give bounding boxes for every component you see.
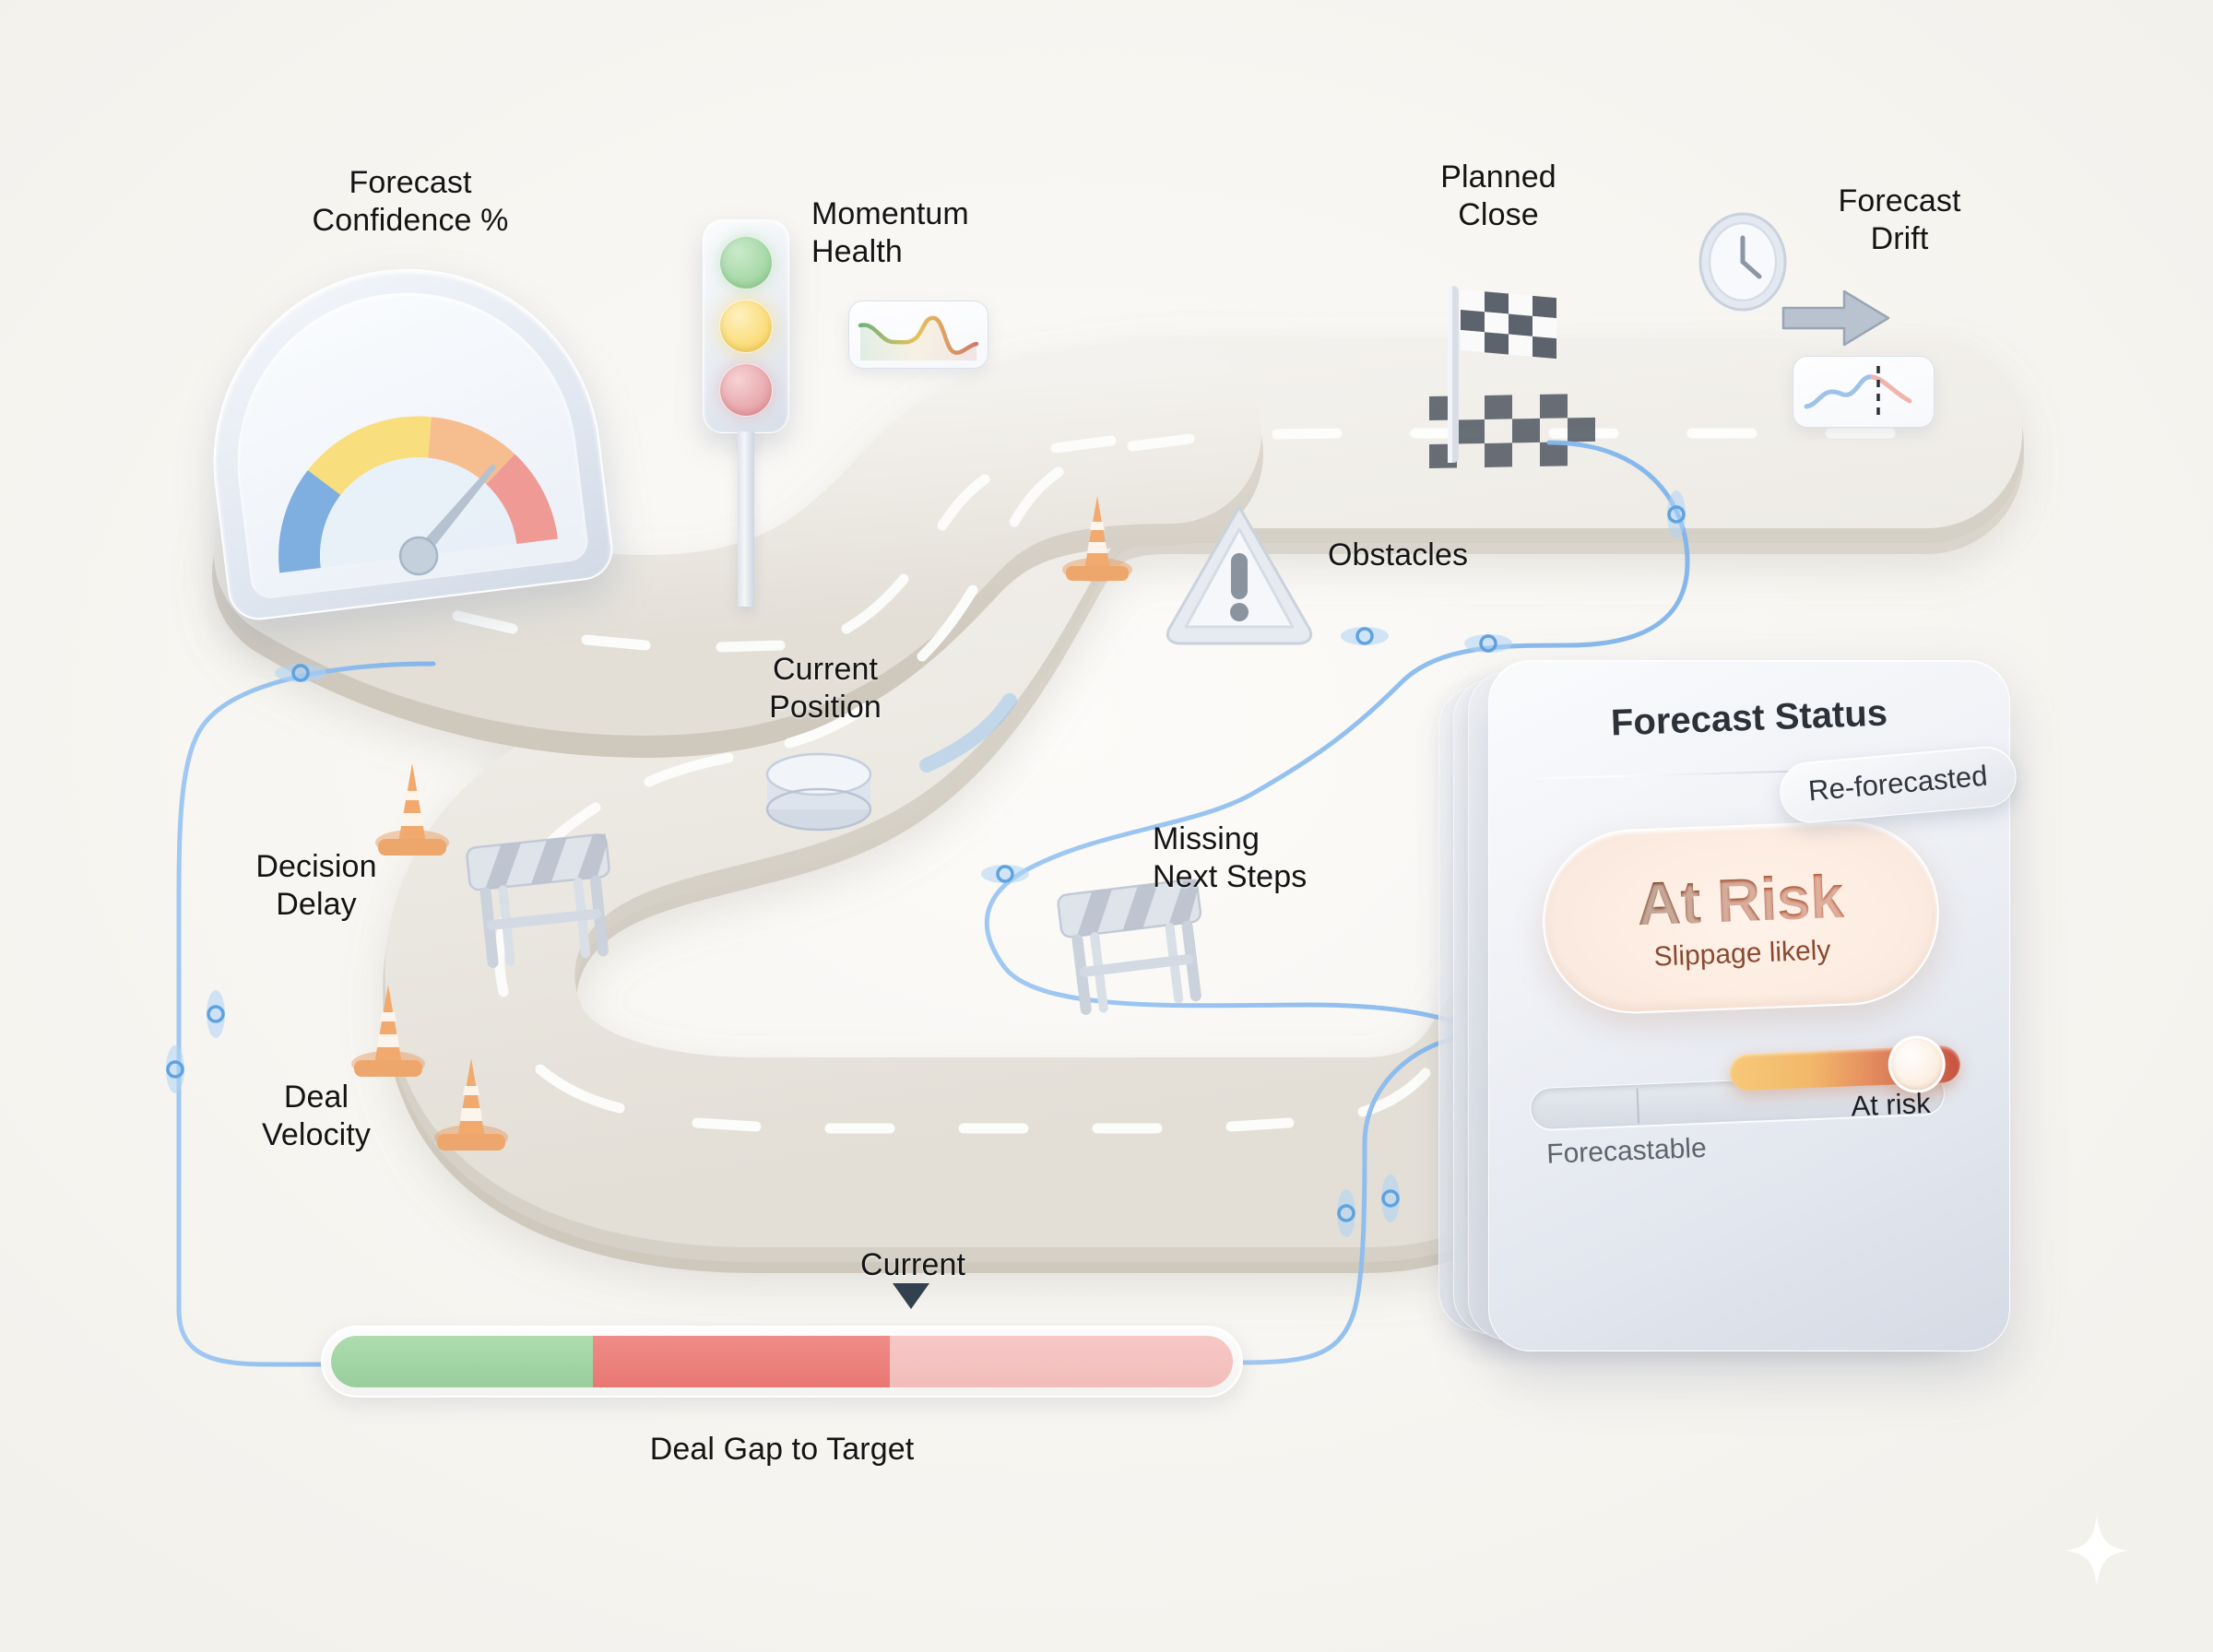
traffic-cone-icon [367,749,457,857]
deal-gap-segment-gap [593,1336,891,1387]
checkered-flag-icon [1431,277,1579,470]
arrow-right-icon [1780,277,1899,360]
momentum-health-label: Momentum Health [811,195,1042,272]
current-marker-arrow [893,1283,929,1309]
deal-gap-to-target-label: Deal Gap to Target [551,1431,1012,1469]
deal-velocity-label: Deal Velocity [201,1079,432,1155]
missing-next-steps-label: Missing Next Steps [1153,820,1438,897]
decision-delay-label: Decision Delay [201,848,432,925]
forecast-status-title: Forecast Status [1488,689,2009,749]
momentum-health-sparkline [848,301,988,369]
sparkle-icon [2064,1514,2130,1587]
forecast-drift-sparkline [1793,356,1935,428]
deal-gap-track [321,1326,1243,1398]
current-position-puck-icon [754,747,883,835]
current-marker-label: Current [821,1246,1005,1284]
traffic-light-green-lamp [719,236,773,289]
traffic-light-icon [703,219,789,607]
risk-slider-left-label: Forecastable [1546,1133,1708,1171]
status-sub-text: Slippage likely [1653,935,1831,973]
traffic-cone-icon [426,1044,516,1152]
traffic-light-yellow-lamp [719,300,773,353]
forecast-confidence-label: Forecast Confidence % [277,164,544,241]
forecast-drift-label: Forecast Drift [1789,183,2010,259]
obstacles-label: Obstacles [1328,537,1549,574]
deal-gap-progress-bar[interactable] [321,1326,1243,1398]
forecast-status-card[interactable]: Forecast Status At Risk Slippage likely … [1438,645,2029,1383]
traffic-cone-icon [343,970,433,1079]
scene-canvas: Forecast Confidence % Momentum Health [0,0,2213,1652]
traffic-cone-icon [1055,481,1140,583]
status-badge: At Risk Slippage likely [1539,818,1942,1017]
traffic-light-red-lamp [719,363,773,417]
barricade-icon [459,828,625,975]
current-position-label: Current Position [710,651,941,727]
risk-slider-right-label: At risk [1851,1087,1932,1123]
deal-gap-segment-remaining [890,1336,1233,1387]
forecast-confidence-gauge [192,247,617,624]
deal-gap-segment-achieved [331,1336,593,1387]
risk-slider[interactable]: Forecastable At risk [1527,1020,1966,1175]
planned-close-label: Planned Close [1392,159,1604,235]
status-main-text: At Risk [1636,861,1845,939]
clock-icon [1693,210,1793,319]
warning-triangle-icon [1164,498,1315,645]
